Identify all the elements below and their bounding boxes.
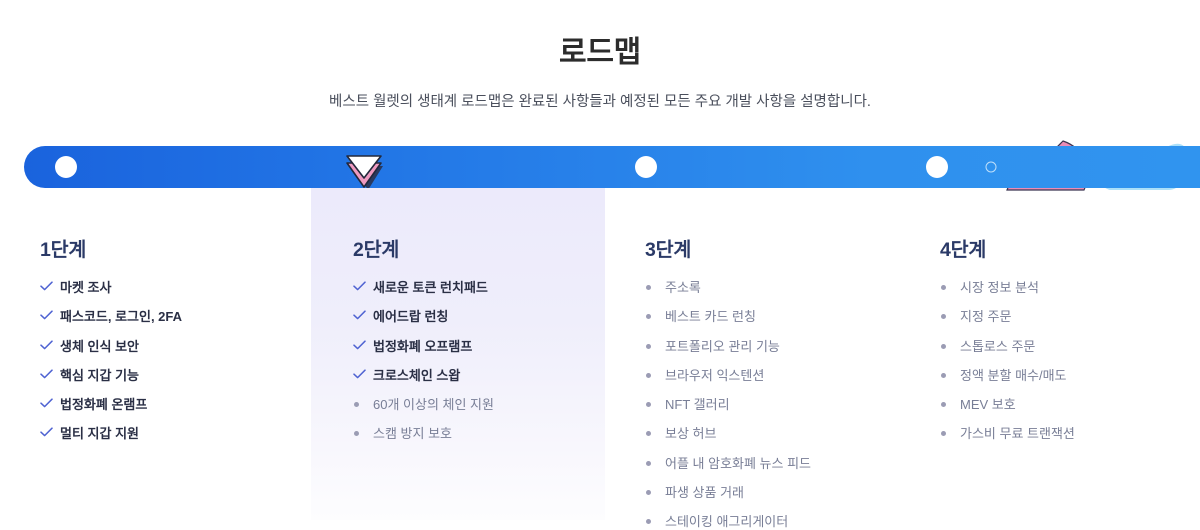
progress-bar-track [24,146,1200,188]
feature-label: 포트폴리오 관리 기능 [665,339,780,355]
bullet-icon [940,309,960,319]
feature-label: 마켓 조사 [60,280,111,296]
stage-2-title: 2단계 [353,188,587,262]
bullet-icon [645,280,665,290]
bullet-icon [645,368,665,378]
page-title: 로드맵 [0,34,1200,72]
feature-label: 브라우저 익스텐션 [665,368,764,384]
feature-item: 멀티 지갑 지원 [40,426,293,442]
feature-item: NFT 갤러리 [645,397,882,413]
feature-label: 생체 인식 보안 [60,339,139,355]
bullet-icon [645,397,665,407]
stage-3-feature-list: 주소록 베스트 카드 런칭 포트폴리오 관리 기능 브라우저 익스텐션 NFT … [645,280,882,530]
feature-item: 법정화폐 온램프 [40,397,293,413]
feature-label: 법정화폐 오프램프 [373,339,472,355]
bullet-icon [645,426,665,436]
check-icon [40,339,60,350]
feature-label: 주소록 [665,280,701,296]
check-icon [353,309,373,320]
check-icon [353,339,373,350]
stage-5-hollow-dot [986,162,997,173]
feature-item: 법정화폐 오프램프 [353,339,587,355]
bullet-icon [940,368,960,378]
stage-column-4: 4단계 시장 정보 분석 지정 주문 스톱로스 주문 정액 분할 매수/매도 M… [900,188,1200,520]
feature-item: 브라우저 익스텐션 [645,368,882,384]
check-icon [353,280,373,291]
bullet-icon [940,426,960,436]
roadmap-progress-bar [0,146,1200,188]
feature-item: 가스비 무료 트랜잭션 [940,426,1182,442]
feature-label: 에어드랍 런칭 [373,309,448,325]
feature-item: 지정 주문 [940,309,1182,325]
feature-label: 법정화폐 온램프 [60,397,147,413]
bullet-icon [940,397,960,407]
check-icon [353,368,373,379]
stage-3-dot [635,156,657,178]
feature-label: 패스코드, 로그인, 2FA [60,309,182,325]
feature-label: 베스트 카드 런칭 [665,309,756,325]
feature-item: 스캠 방지 보호 [353,426,587,442]
check-icon [40,397,60,408]
feature-item: 스톱로스 주문 [940,339,1182,355]
bullet-icon [645,485,665,495]
roadmap-header: 로드맵 베스트 월렛의 생태계 로드맵은 완료된 사항들과 예정된 모든 주요 … [0,0,1200,113]
feature-item: 60개 이상의 체인 지원 [353,397,587,413]
feature-item: 시장 정보 분석 [940,280,1182,296]
feature-label: 스캠 방지 보호 [373,426,452,442]
check-icon [40,426,60,437]
feature-label: 시장 정보 분석 [960,280,1039,296]
feature-item: 파생 상품 거래 [645,485,882,501]
check-icon [40,309,60,320]
stage-4-dot [926,156,948,178]
feature-label: 어플 내 암호화폐 뉴스 피드 [665,456,811,472]
stage-column-3: 3단계 주소록 베스트 카드 런칭 포트폴리오 관리 기능 브라우저 익스텐션 … [605,188,900,520]
feature-label: 멀티 지갑 지원 [60,426,139,442]
feature-item: 정액 분할 매수/매도 [940,368,1182,384]
stage-column-2: 2단계 새로운 토큰 런치패드 에어드랍 런칭 법정화폐 오프램프 크로스체인 … [311,188,605,520]
feature-label: 핵심 지갑 기능 [60,368,139,384]
stage-4-feature-list: 시장 정보 분석 지정 주문 스톱로스 주문 정액 분할 매수/매도 MEV 보… [940,280,1182,443]
feature-item: 마켓 조사 [40,280,293,296]
stage-1-dot [55,156,77,178]
bullet-icon [645,456,665,466]
feature-label: MEV 보호 [960,397,1016,413]
feature-item: 주소록 [645,280,882,296]
stage-2-marker-icon [336,143,392,191]
feature-item: 어플 내 암호화폐 뉴스 피드 [645,456,882,472]
feature-label: 60개 이상의 체인 지원 [373,397,494,413]
feature-item: 보상 허브 [645,426,882,442]
bullet-icon [645,339,665,349]
stage-2-feature-list: 새로운 토큰 런치패드 에어드랍 런칭 법정화폐 오프램프 크로스체인 스왑 6… [353,280,587,443]
feature-label: 가스비 무료 트랜잭션 [960,426,1075,442]
bullet-icon [353,397,373,407]
check-icon [40,280,60,291]
stage-3-title: 3단계 [645,188,882,262]
stage-1-feature-list: 마켓 조사 패스코드, 로그인, 2FA 생체 인식 보안 핵심 지갑 기능 법… [40,280,293,443]
feature-item: 베스트 카드 런칭 [645,309,882,325]
bullet-icon [940,339,960,349]
feature-label: 파생 상품 거래 [665,485,744,501]
feature-label: 지정 주문 [960,309,1011,325]
roadmap-stage-columns: 1단계 마켓 조사 패스코드, 로그인, 2FA 생체 인식 보안 핵심 지갑 … [0,188,1200,520]
bullet-icon [940,280,960,290]
feature-label: 스테이킹 애그리게이터 [665,514,788,530]
check-icon [40,368,60,379]
feature-item: 생체 인식 보안 [40,339,293,355]
feature-label: 보상 허브 [665,426,716,442]
feature-label: 크로스체인 스왑 [373,368,460,384]
feature-item: 스테이킹 애그리게이터 [645,514,882,530]
bullet-icon [645,309,665,319]
feature-item: 포트폴리오 관리 기능 [645,339,882,355]
feature-item: 크로스체인 스왑 [353,368,587,384]
feature-label: 정액 분할 매수/매도 [960,368,1067,384]
stage-1-title: 1단계 [40,188,293,262]
feature-item: MEV 보호 [940,397,1182,413]
feature-label: 스톱로스 주문 [960,339,1035,355]
bullet-icon [645,514,665,524]
feature-item: 에어드랍 런칭 [353,309,587,325]
feature-item: 패스코드, 로그인, 2FA [40,309,293,325]
stage-4-title: 4단계 [940,188,1182,262]
feature-item: 새로운 토큰 런치패드 [353,280,587,296]
feature-item: 핵심 지갑 기능 [40,368,293,384]
feature-label: NFT 갤러리 [665,397,730,413]
feature-label: 새로운 토큰 런치패드 [373,280,488,296]
bullet-icon [353,426,373,436]
page-subtitle: 베스트 월렛의 생태계 로드맵은 완료된 사항들과 예정된 모든 주요 개발 사… [0,92,1200,114]
stage-column-1: 1단계 마켓 조사 패스코드, 로그인, 2FA 생체 인식 보안 핵심 지갑 … [0,188,311,520]
